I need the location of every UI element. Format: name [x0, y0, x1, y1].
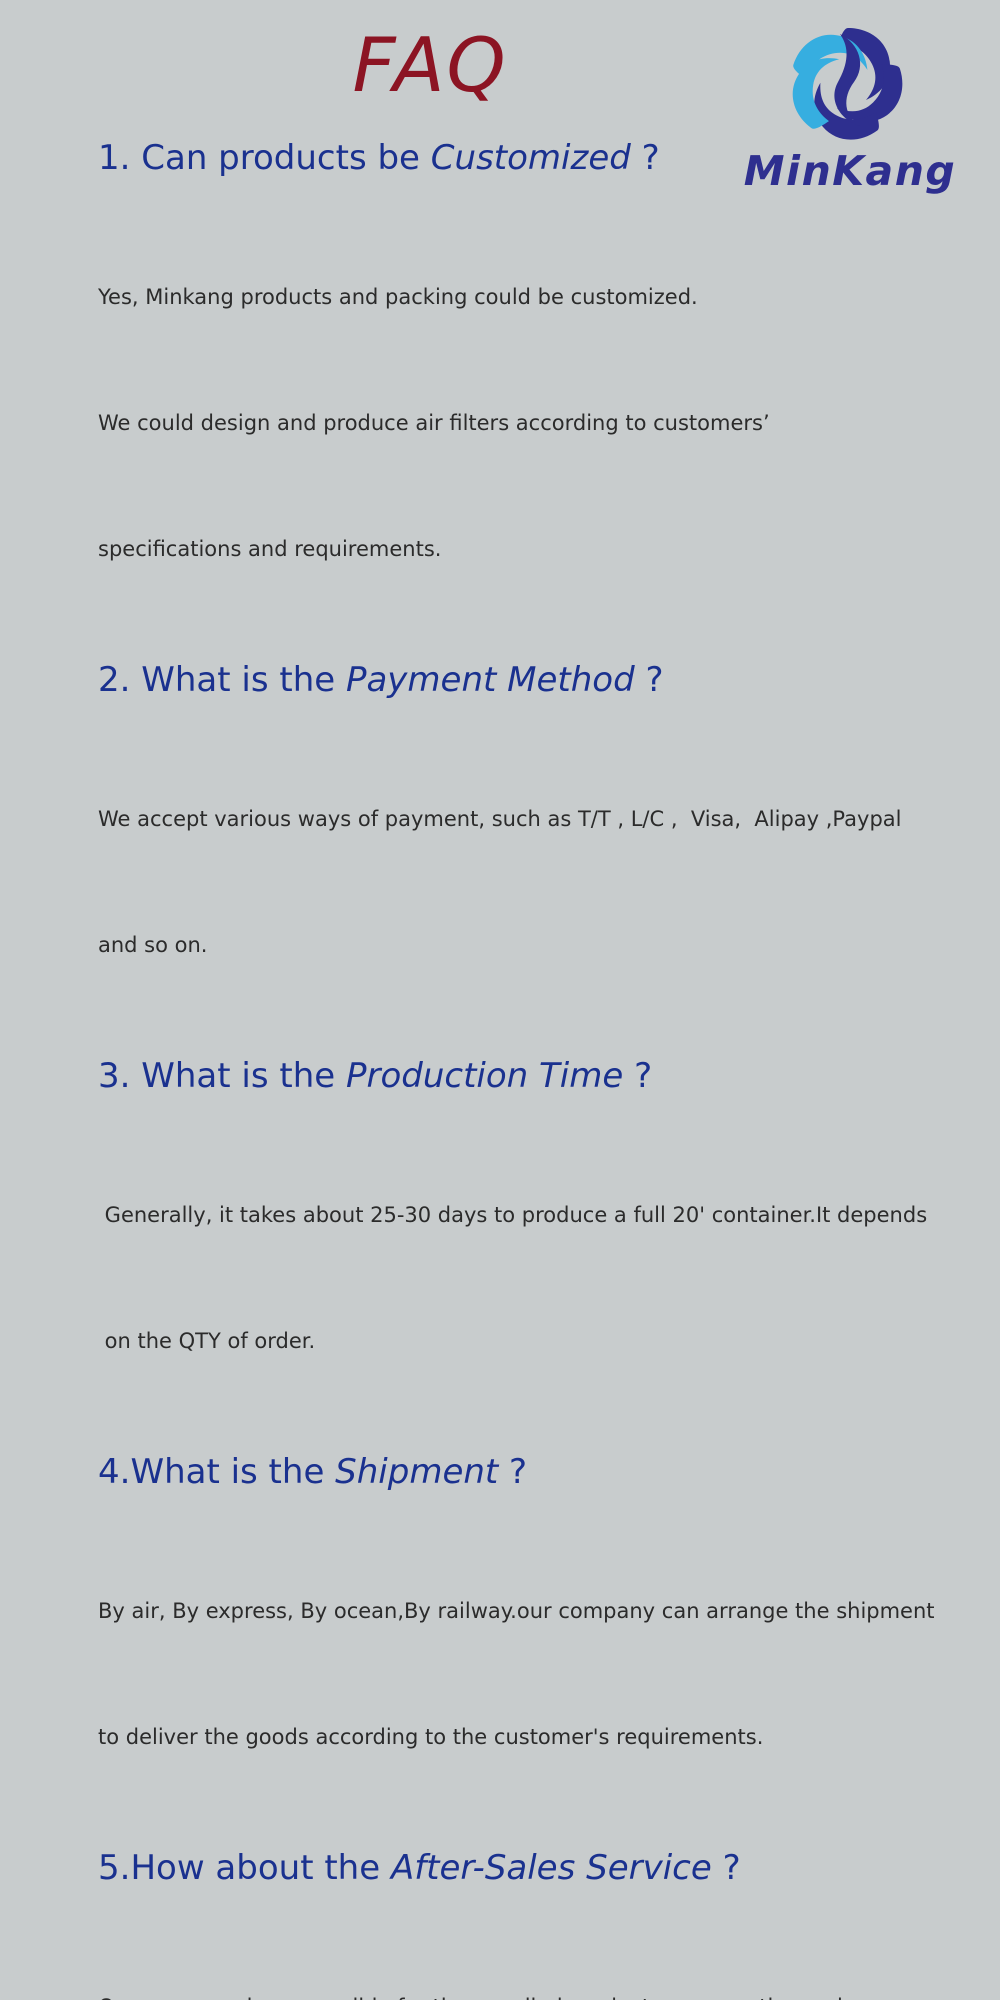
faq-number-2: 2. — [98, 660, 141, 700]
answer-line: We could design and produce air filters … — [98, 402, 978, 444]
faq-question-emphasis-2: Payment Method — [346, 660, 635, 700]
spacer — [98, 1102, 978, 1110]
answer-line: Our company is responsible for the suppl… — [98, 1986, 978, 2000]
faq-list: 1. Can products be Customized ? Yes, Min… — [98, 132, 978, 2000]
faq-number-4: 4. — [98, 1452, 130, 1492]
faq-question-tail-5: ? — [712, 1848, 741, 1888]
faq-number-1: 1. — [98, 138, 141, 178]
faq-item-2: 2. What is the Payment Method ? We accep… — [98, 654, 978, 1050]
faq-question-lead-1: Can products be — [141, 138, 431, 178]
faq-answer-4: By air, By express, By ocean,By railway.… — [98, 1506, 978, 1842]
faq-question-2: 2. What is the Payment Method ? — [98, 654, 978, 706]
faq-question-tail-2: ? — [635, 660, 664, 700]
faq-question-tail-4: ? — [498, 1452, 527, 1492]
faq-item-3: 3. What is the Production Time ? General… — [98, 1050, 978, 1446]
faq-question-lead-4: What is the — [130, 1452, 335, 1492]
spacer — [98, 184, 978, 192]
answer-line: on the QTY of order. — [98, 1320, 978, 1362]
faq-item-5: 5.How about the After-Sales Service ? Ou… — [98, 1842, 978, 2000]
faq-question-1: 1. Can products be Customized ? — [98, 132, 978, 184]
spacer — [98, 1894, 978, 1902]
answer-line: to deliver the goods according to the cu… — [98, 1716, 978, 1758]
answer-line: Yes, Minkang products and packing could … — [98, 276, 978, 318]
answer-line: Generally, it takes about 25-30 days to … — [98, 1194, 978, 1236]
faq-answer-5: Our company is responsible for the suppl… — [98, 1902, 978, 2000]
faq-question-lead-3: What is the — [141, 1056, 346, 1096]
minkang-pinwheel-icon — [782, 20, 910, 148]
faq-page: FAQ — [0, 0, 1000, 1000]
faq-question-3: 3. What is the Production Time ? — [98, 1050, 978, 1102]
faq-question-tail-3: ? — [623, 1056, 652, 1096]
faq-question-5: 5.How about the After-Sales Service ? — [98, 1842, 978, 1894]
answer-line: and so on. — [98, 924, 978, 966]
faq-number-3: 3. — [98, 1056, 141, 1096]
faq-question-lead-2: What is the — [141, 660, 346, 700]
faq-question-tail-1: ? — [631, 138, 660, 178]
faq-answer-1: Yes, Minkang products and packing could … — [98, 192, 978, 654]
faq-item-4: 4.What is the Shipment ? By air, By expr… — [98, 1446, 978, 1842]
answer-line: By air, By express, By ocean,By railway.… — [98, 1590, 978, 1632]
faq-question-emphasis-1: Customized — [431, 138, 631, 178]
faq-question-emphasis-3: Production Time — [346, 1056, 623, 1096]
faq-item-1: 1. Can products be Customized ? Yes, Min… — [98, 132, 978, 654]
faq-answer-3: Generally, it takes about 25-30 days to … — [98, 1110, 978, 1446]
faq-question-emphasis-4: Shipment — [335, 1452, 498, 1492]
answer-line: We accept various ways of payment, such … — [98, 798, 978, 840]
faq-number-5: 5. — [98, 1848, 130, 1888]
faq-question-lead-5: How about the — [130, 1848, 391, 1888]
faq-question-4: 4.What is the Shipment ? — [98, 1446, 978, 1498]
faq-question-emphasis-5: After-Sales Service — [391, 1848, 712, 1888]
answer-line: specifications and requirements. — [98, 528, 978, 570]
spacer — [98, 1498, 978, 1506]
spacer — [98, 706, 978, 714]
